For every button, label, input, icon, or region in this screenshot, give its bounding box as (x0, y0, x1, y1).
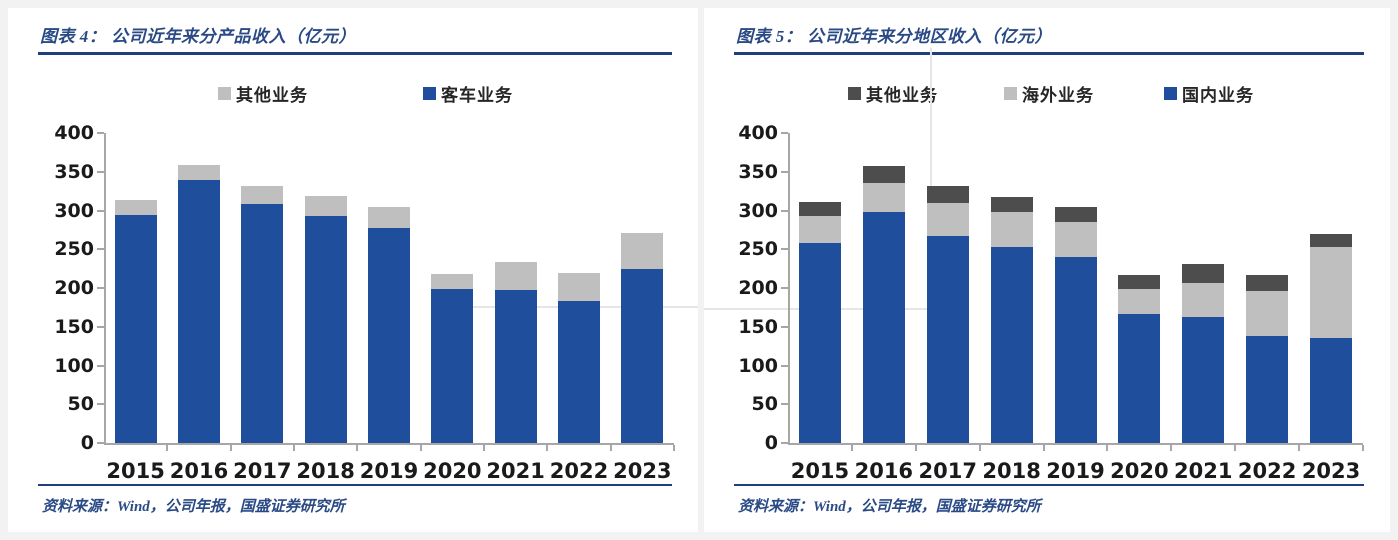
y-axis-tick-label: 50 (724, 393, 778, 415)
y-tick-mark (781, 210, 788, 212)
bar-segment[interactable] (178, 165, 220, 181)
y-tick-mark (97, 365, 104, 367)
bar-segment[interactable] (178, 180, 220, 443)
bar-segment[interactable] (1246, 275, 1288, 291)
x-axis-tick-label: 2017 (918, 459, 976, 483)
x-tick-mark (293, 445, 295, 451)
x-tick-mark (166, 445, 168, 451)
bar-segment[interactable] (927, 203, 969, 236)
y-axis-tick-label: 400 (724, 122, 778, 144)
bar-segment[interactable] (1118, 275, 1160, 289)
x-tick-mark (1362, 445, 1364, 451)
x-tick-mark (1234, 445, 1236, 451)
bar-segment[interactable] (863, 212, 905, 443)
y-axis-tick-label: 150 (40, 316, 94, 338)
y-tick-mark (781, 132, 788, 134)
x-tick-mark (356, 445, 358, 451)
x-axis-tick-label: 2022 (1238, 459, 1296, 483)
source-divider-right (734, 484, 1364, 486)
bar-segment[interactable] (1182, 283, 1224, 317)
y-axis-tick-label: 0 (724, 432, 778, 454)
y-axis-tick-label: 100 (724, 355, 778, 377)
x-axis-tick-label: 2023 (1302, 459, 1360, 483)
figure-panel-right: 图表 5： 公司近年来分地区收入（亿元） 其他业务海外业务国内业务 050100… (704, 8, 1390, 532)
x-tick-mark (915, 445, 917, 451)
bar-segment[interactable] (1055, 222, 1097, 257)
bar-segment[interactable] (241, 204, 283, 443)
y-axis-tick-label: 300 (40, 200, 94, 222)
x-tick-mark (673, 445, 675, 451)
chart-plot-right: 0501001502002503003504002015201620172018… (704, 8, 1390, 478)
screenshot-canvas: 图表 4： 公司近年来分产品收入（亿元） 其他业务客车业务 0501001502… (0, 0, 1398, 540)
x-tick-mark (1106, 445, 1108, 451)
y-axis-tick-label: 250 (724, 238, 778, 260)
y-axis-tick-label: 150 (724, 316, 778, 338)
bar-segment[interactable] (1182, 317, 1224, 443)
x-axis-tick-label: 2019 (360, 459, 418, 483)
bar-segment[interactable] (368, 207, 410, 228)
y-tick-mark (97, 403, 104, 405)
y-tick-mark (781, 171, 788, 173)
source-text-left: 资料来源：Wind，公司年报，国盛证券研究所 (42, 495, 345, 516)
y-tick-mark (97, 132, 104, 134)
bar-segment[interactable] (1310, 234, 1352, 247)
bar-segment[interactable] (558, 273, 600, 301)
bar-segment[interactable] (495, 290, 537, 443)
bar-segment[interactable] (115, 215, 157, 443)
y-axis-tick-label: 300 (724, 200, 778, 222)
y-tick-mark (781, 365, 788, 367)
y-tick-mark (97, 210, 104, 212)
bar-segment[interactable] (1246, 291, 1288, 336)
bar-segment[interactable] (1055, 207, 1097, 222)
y-axis-tick-label: 50 (40, 393, 94, 415)
source-divider-left (38, 484, 672, 486)
y-axis-tick-label: 350 (724, 161, 778, 183)
bar-segment[interactable] (431, 289, 473, 443)
y-tick-mark (781, 287, 788, 289)
x-axis-tick-label: 2020 (1110, 459, 1168, 483)
x-tick-mark (230, 445, 232, 451)
x-tick-mark (979, 445, 981, 451)
x-axis-tick-label: 2018 (982, 459, 1040, 483)
bar-segment[interactable] (863, 166, 905, 182)
y-axis-tick-label: 200 (724, 277, 778, 299)
x-axis-line (788, 443, 1363, 445)
y-axis-tick-label: 350 (40, 161, 94, 183)
y-axis-line (788, 133, 790, 443)
y-tick-mark (781, 248, 788, 250)
y-axis-tick-label: 0 (40, 432, 94, 454)
bar-segment[interactable] (115, 200, 157, 215)
y-tick-mark (97, 171, 104, 173)
y-axis-tick-label: 250 (40, 238, 94, 260)
bar-segment[interactable] (368, 228, 410, 443)
x-axis-tick-label: 2018 (296, 459, 354, 483)
x-axis-tick-label: 2015 (106, 459, 164, 483)
bar-segment[interactable] (1182, 264, 1224, 283)
bar-segment[interactable] (1246, 336, 1288, 443)
source-text-right: 资料来源：Wind，公司年报，国盛证券研究所 (738, 495, 1041, 516)
x-axis-tick-label: 2021 (1174, 459, 1232, 483)
bar-segment[interactable] (621, 269, 663, 443)
x-axis-tick-label: 2016 (170, 459, 228, 483)
y-tick-mark (781, 403, 788, 405)
x-axis-tick-label: 2019 (1046, 459, 1104, 483)
x-axis-tick-label: 2023 (613, 459, 671, 483)
x-tick-mark (546, 445, 548, 451)
x-tick-mark (1170, 445, 1172, 451)
y-axis-line (104, 133, 106, 443)
bar-segment[interactable] (241, 186, 283, 205)
x-axis-line (104, 443, 674, 445)
bar-segment[interactable] (991, 197, 1033, 213)
bar-segment[interactable] (799, 202, 841, 216)
x-axis-tick-label: 2017 (233, 459, 291, 483)
y-axis-tick-label: 200 (40, 277, 94, 299)
x-tick-mark (420, 445, 422, 451)
x-axis-tick-label: 2015 (791, 459, 849, 483)
y-axis-tick-label: 100 (40, 355, 94, 377)
y-tick-mark (97, 248, 104, 250)
y-tick-mark (97, 326, 104, 328)
y-tick-mark (781, 442, 788, 444)
bar-segment[interactable] (431, 274, 473, 289)
x-tick-mark (610, 445, 612, 451)
bar-segment[interactable] (1310, 338, 1352, 443)
y-tick-mark (781, 326, 788, 328)
bar-segment[interactable] (305, 216, 347, 443)
bar-segment[interactable] (863, 183, 905, 212)
bar-segment[interactable] (1055, 257, 1097, 443)
bar-segment[interactable] (799, 243, 841, 443)
y-tick-mark (97, 287, 104, 289)
x-tick-mark (1298, 445, 1300, 451)
bar-segment[interactable] (799, 216, 841, 243)
bar-segment[interactable] (991, 247, 1033, 443)
bar-segment[interactable] (1118, 314, 1160, 443)
bar-segment[interactable] (621, 233, 663, 269)
bar-segment[interactable] (927, 236, 969, 443)
x-axis-tick-label: 2021 (486, 459, 544, 483)
x-axis-tick-label: 2016 (855, 459, 913, 483)
bar-segment[interactable] (558, 301, 600, 443)
x-axis-tick-label: 2022 (550, 459, 608, 483)
bar-segment[interactable] (927, 186, 969, 203)
y-tick-mark (97, 442, 104, 444)
bar-segment[interactable] (305, 196, 347, 216)
x-tick-mark (483, 445, 485, 451)
x-tick-mark (1043, 445, 1045, 451)
bar-segment[interactable] (991, 212, 1033, 247)
x-tick-mark (851, 445, 853, 451)
y-axis-tick-label: 400 (40, 122, 94, 144)
bar-segment[interactable] (1118, 289, 1160, 314)
figure-panel-left: 图表 4： 公司近年来分产品收入（亿元） 其他业务客车业务 0501001502… (8, 8, 698, 532)
bar-segment[interactable] (1310, 247, 1352, 338)
bar-segment[interactable] (495, 262, 537, 290)
x-axis-tick-label: 2020 (423, 459, 481, 483)
chart-plot-left: 0501001502002503003504002015201620172018… (8, 8, 698, 478)
